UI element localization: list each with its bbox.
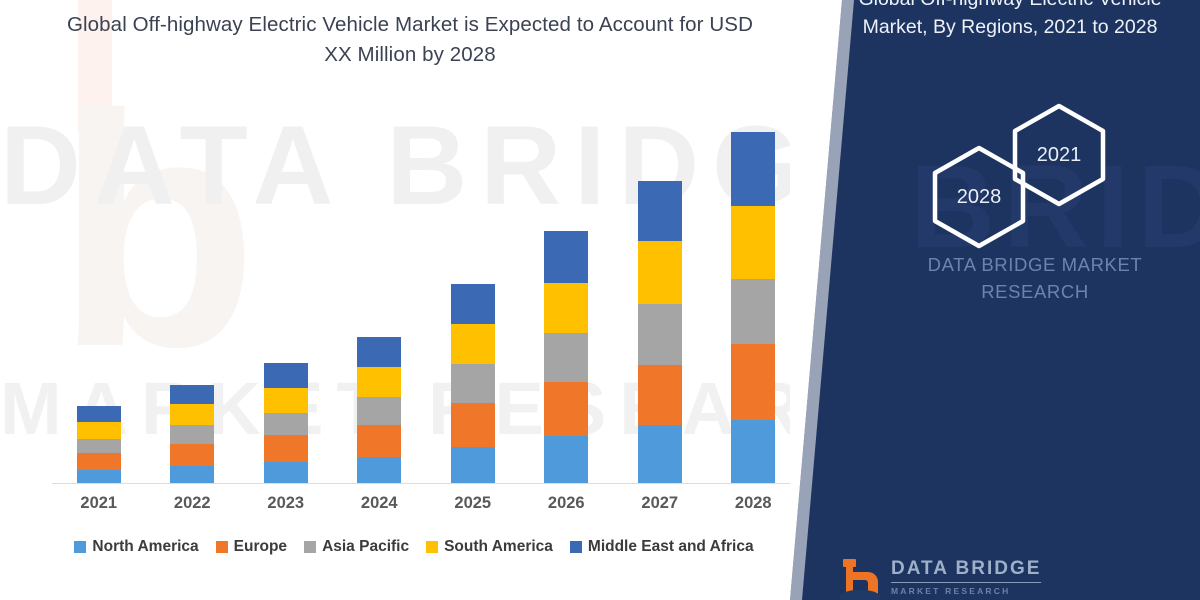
bar-2024[interactable]	[357, 337, 401, 484]
footer-divider	[891, 582, 1041, 583]
hexagon-year-badges: 2021 2028	[790, 96, 1200, 226]
bar-segment	[731, 206, 775, 279]
legend-label: Asia Pacific	[322, 538, 409, 556]
bar-2025[interactable]	[451, 284, 495, 484]
x-tick-2022: 2022	[152, 494, 232, 513]
bar-segment	[77, 406, 121, 422]
legend-swatch-icon	[74, 541, 86, 553]
x-axis-tick-labels: 20212022202320242025202620272028	[52, 494, 800, 522]
bar-segment	[638, 241, 682, 304]
bar-segment	[357, 367, 401, 397]
x-tick-2027: 2027	[620, 494, 700, 513]
bar-segment	[264, 462, 308, 484]
legend-item[interactable]: Middle East and Africa	[570, 538, 754, 556]
legend-swatch-icon	[426, 541, 438, 553]
bar-segment	[77, 422, 121, 438]
x-tick-2028: 2028	[713, 494, 793, 513]
bar-2023[interactable]	[264, 363, 308, 484]
brand-name: DATA BRIDGE MARKET RESEARCH	[890, 252, 1180, 306]
legend-swatch-icon	[304, 541, 316, 553]
bar-2022[interactable]	[170, 385, 214, 484]
legend-swatch-icon	[570, 541, 582, 553]
chart-panel: b DATA BRIDGE MARKET RESEARCH Global Off…	[0, 0, 880, 600]
legend-label: North America	[92, 538, 198, 556]
bar-2027[interactable]	[638, 181, 682, 484]
chart-legend: North AmericaEuropeAsia PacificSouth Ame…	[44, 538, 784, 556]
bar-segment	[544, 382, 588, 437]
bar-segment	[451, 447, 495, 484]
page-title: Global Off-highway Electric Vehicle Mark…	[60, 10, 760, 71]
bar-segment	[264, 363, 308, 388]
x-tick-2024: 2024	[339, 494, 419, 513]
bar-segment	[170, 444, 214, 466]
x-tick-2025: 2025	[433, 494, 513, 513]
legend-label: South America	[444, 538, 553, 556]
x-tick-2023: 2023	[246, 494, 326, 513]
bar-segment	[170, 404, 214, 425]
bar-segment	[638, 365, 682, 426]
infographic-canvas: b DATA BRIDGE MARKET RESEARCH Global Off…	[0, 0, 1200, 600]
footer-brand-text: DATA BRIDGE MARKET RESEARCH	[891, 558, 1041, 600]
x-tick-2026: 2026	[526, 494, 606, 513]
bridge-logo-icon	[838, 556, 882, 600]
legend-swatch-icon	[216, 541, 228, 553]
legend-item[interactable]: North America	[74, 538, 198, 556]
title-panel: BRIDGE Global Off-highway Electric Vehic…	[790, 0, 1200, 600]
bar-segment	[638, 304, 682, 365]
x-axis-line	[52, 483, 794, 484]
footer-brand-main: DATA BRIDGE	[891, 558, 1041, 580]
bar-segment	[731, 132, 775, 206]
panel-title: Global Off-highway Electric Vehicle Mark…	[830, 0, 1190, 41]
bar-segment	[264, 435, 308, 461]
bar-segment	[357, 457, 401, 484]
bar-segment	[638, 425, 682, 484]
bar-segment	[638, 181, 682, 242]
legend-label: Europe	[234, 538, 287, 556]
bar-2021[interactable]	[77, 406, 121, 484]
bar-segment	[451, 364, 495, 403]
x-tick-2021: 2021	[59, 494, 139, 513]
bar-segment	[544, 333, 588, 382]
bar-2026[interactable]	[544, 231, 588, 484]
footer-logo: DATA BRIDGE MARKET RESEARCH	[838, 556, 1041, 600]
bar-segment	[357, 397, 401, 425]
bar-segment	[731, 344, 775, 420]
bar-segment	[77, 453, 121, 470]
bar-segment	[731, 420, 775, 484]
hexagon-badge-start-year-label: 2028	[957, 186, 1002, 209]
legend-label: Middle East and Africa	[588, 538, 754, 556]
bar-segment	[731, 279, 775, 345]
bar-segment	[170, 385, 214, 404]
bar-segment	[170, 466, 214, 484]
bar-segment	[264, 413, 308, 435]
bar-segment	[451, 324, 495, 363]
bar-segment	[357, 337, 401, 366]
bar-2028[interactable]	[731, 132, 775, 484]
bar-segment	[77, 470, 121, 484]
bar-segment	[264, 388, 308, 413]
bar-segment	[170, 425, 214, 443]
bar-segment	[357, 425, 401, 456]
hexagon-badge-end-year-label: 2021	[1037, 144, 1082, 167]
plot-area	[52, 120, 800, 484]
legend-item[interactable]: South America	[426, 538, 553, 556]
bar-segment	[451, 403, 495, 446]
bar-segment	[544, 283, 588, 334]
legend-item[interactable]: Asia Pacific	[304, 538, 409, 556]
bar-segment	[451, 284, 495, 324]
footer-brand-sub: MARKET RESEARCH	[891, 586, 1041, 596]
legend-item[interactable]: Europe	[216, 538, 287, 556]
bar-segment	[544, 231, 588, 283]
bar-segment	[544, 436, 588, 484]
hexagon-badge-start-year: 2028	[930, 144, 1028, 250]
bar-segment	[77, 439, 121, 453]
